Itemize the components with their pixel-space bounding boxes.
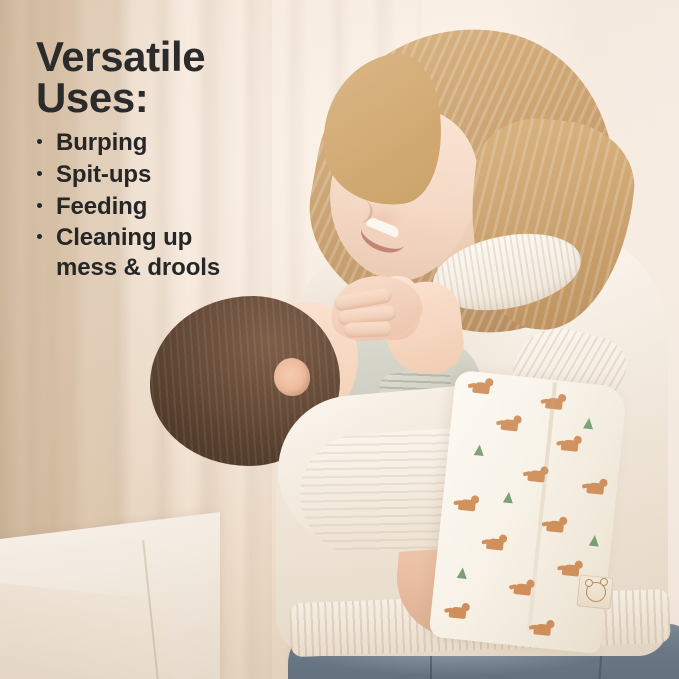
- product-lifestyle-image: Versatile Uses: Burping Spit-ups Feeding…: [0, 0, 679, 679]
- bullet-dot-icon: [37, 203, 42, 208]
- bullet-dot-icon: [37, 171, 42, 176]
- page-title: Versatile Uses:: [36, 36, 286, 118]
- uses-list: Burping Spit-ups Feeding Cleaning up mes…: [34, 128, 220, 285]
- bear-ear-right-icon: [600, 578, 608, 586]
- list-item: Spit-ups: [34, 160, 220, 190]
- bullet-dot-icon: [37, 139, 42, 144]
- list-item: Feeding: [34, 192, 220, 222]
- mother-finger-3: [344, 321, 392, 338]
- bear-ear-left-icon: [585, 579, 593, 587]
- list-item-label-line2: mess & drools: [56, 253, 220, 283]
- list-item-label: Spit-ups: [56, 161, 151, 188]
- list-item-label: Cleaning up: [56, 224, 192, 251]
- list-item-label: Feeding: [56, 193, 147, 220]
- marketing-text-overlay: Versatile Uses: Burping Spit-ups Feeding…: [0, 0, 300, 300]
- list-item: Cleaning up mess & drools: [34, 223, 220, 283]
- bullet-dot-icon: [37, 234, 42, 239]
- list-item-label: Burping: [56, 129, 147, 156]
- headline-line-1: Versatile: [36, 33, 205, 80]
- list-item: Burping: [34, 128, 220, 158]
- headline-line-2: Uses:: [36, 74, 148, 121]
- baby-ear: [274, 358, 310, 396]
